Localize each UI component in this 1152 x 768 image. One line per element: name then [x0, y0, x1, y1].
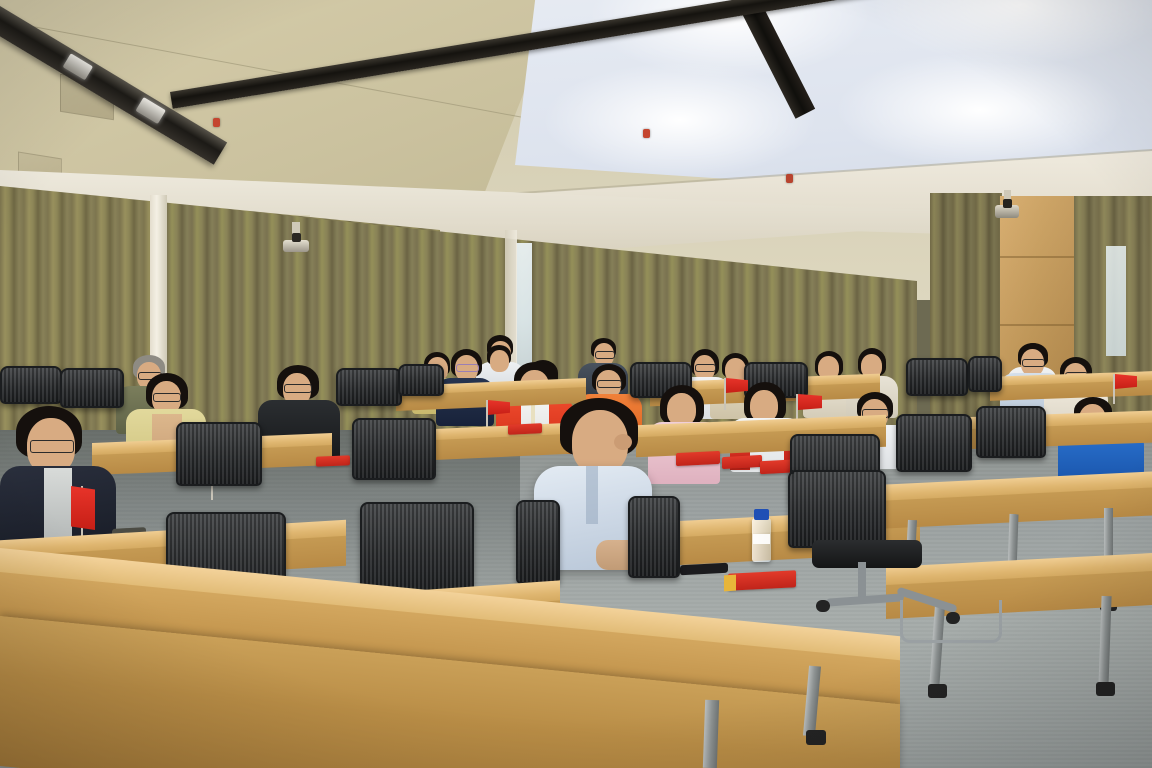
- window-daylight-gap: [516, 243, 532, 373]
- small-flag-icon: [726, 378, 748, 393]
- eyeglasses-icon: [1022, 359, 1045, 367]
- red-envelope: [676, 451, 720, 466]
- sprinkler-head-icon: [786, 174, 793, 183]
- conference-room-photo: [0, 0, 1152, 768]
- small-flag-icon: [1115, 374, 1137, 389]
- desk-caster: [928, 684, 947, 698]
- chair-back[interactable]: [176, 422, 262, 486]
- desk-caster: [1096, 682, 1115, 696]
- red-envelope: [316, 455, 350, 466]
- sprinkler-head-icon: [643, 129, 650, 138]
- chair-back[interactable]: [352, 418, 436, 480]
- chair-back[interactable]: [336, 368, 402, 406]
- bottle-label: [753, 534, 770, 544]
- desk-leg: [703, 700, 719, 768]
- eyeglasses-icon: [597, 380, 622, 388]
- flag-pole: [724, 378, 726, 410]
- eyeglasses-icon: [595, 351, 615, 359]
- red-envelope: [722, 455, 762, 469]
- camera-lens-icon: [1003, 199, 1012, 208]
- chair-back[interactable]: [906, 358, 968, 396]
- chair-back[interactable]: [976, 406, 1046, 458]
- eyeglasses-icon: [695, 364, 716, 372]
- shirt-placket: [586, 466, 598, 524]
- gold-bookmark: [724, 575, 736, 592]
- chair-caster: [816, 600, 830, 612]
- eyeglasses-icon: [284, 384, 312, 393]
- person-ear: [614, 434, 632, 450]
- flag-pole: [1113, 374, 1115, 404]
- chair-back[interactable]: [788, 470, 886, 548]
- chair-back-spacer: [790, 470, 794, 474]
- chair-back[interactable]: [60, 368, 124, 408]
- small-flag-icon: [488, 400, 510, 415]
- eyeglasses-icon: [456, 364, 479, 372]
- window-daylight-gap-right: [1106, 246, 1126, 356]
- projector-lens-icon: [292, 233, 301, 242]
- person-head: [490, 350, 509, 372]
- chair-back[interactable]: [398, 364, 444, 396]
- chair-seat[interactable]: [812, 540, 922, 568]
- bottle-cap[interactable]: [754, 509, 769, 520]
- inner-shirt: [44, 468, 72, 538]
- chair-back[interactable]: [360, 502, 474, 598]
- small-flag-icon: [798, 394, 822, 410]
- chair-back[interactable]: [896, 414, 972, 472]
- eyeglasses-icon: [153, 393, 181, 402]
- chair-back[interactable]: [968, 356, 1002, 392]
- chair-sled-base: [900, 600, 1002, 643]
- desk-caster: [806, 730, 826, 745]
- chair-back[interactable]: [516, 500, 560, 584]
- sprinkler-head-icon: [213, 118, 220, 127]
- eyeglasses-icon: [30, 440, 74, 453]
- chair-back[interactable]: [628, 496, 680, 578]
- red-envelope[interactable]: [728, 570, 796, 591]
- small-flag-icon: [71, 486, 95, 530]
- chair-back[interactable]: [0, 366, 62, 404]
- red-envelope: [508, 423, 542, 435]
